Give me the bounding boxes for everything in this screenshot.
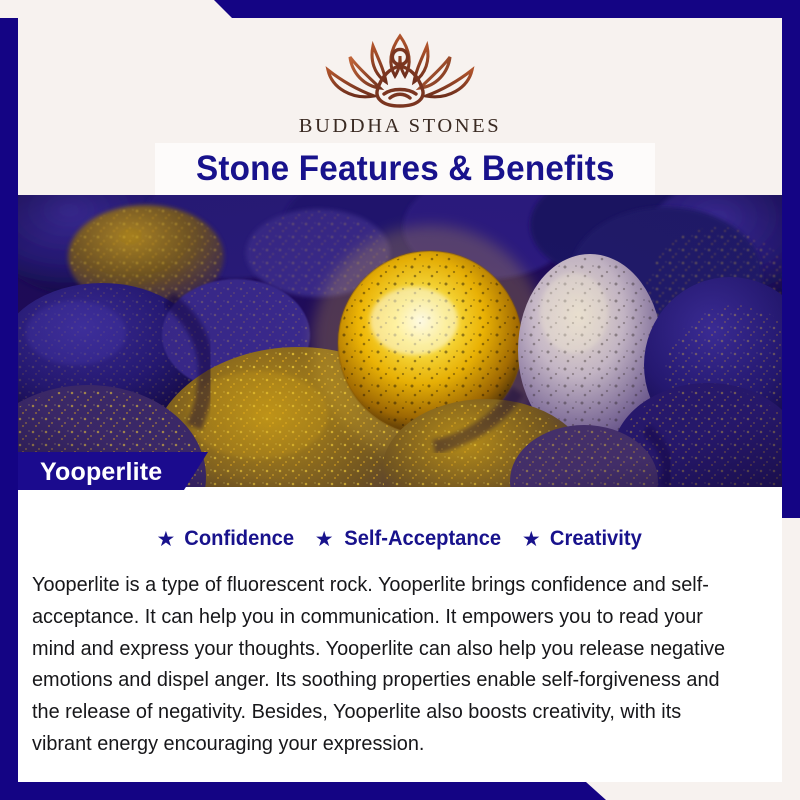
stone-name-banner: Yooperlite — [18, 452, 208, 490]
stone-photo-artwork — [18, 195, 782, 487]
stone-name: Yooperlite — [40, 458, 162, 487]
page-title: Stone Features & Benefits — [196, 149, 615, 189]
brand-name: BUDDHA STONES — [299, 115, 502, 138]
keyword-item: ★ Creativity — [522, 527, 644, 551]
star-icon: ★ — [157, 529, 176, 550]
star-icon: ★ — [315, 529, 334, 550]
keyword-label: Self-Acceptance — [344, 527, 501, 551]
content-panel: ★ Confidence ★ Self-Acceptance ★ Creativ… — [18, 487, 782, 782]
lotus-meditation-icon — [312, 26, 488, 112]
brand-logo: BUDDHA STONES — [299, 26, 502, 138]
keywords-row: ★ Confidence ★ Self-Acceptance ★ Creativ… — [18, 527, 782, 551]
left-border-accent — [0, 18, 18, 800]
stone-photo — [18, 195, 782, 487]
star-icon: ★ — [522, 529, 541, 550]
keyword-item: ★ Confidence — [157, 527, 297, 551]
stone-description: Yooperlite is a type of fluorescent rock… — [32, 569, 732, 760]
title-banner: Stone Features & Benefits — [155, 143, 655, 195]
right-border-accent — [782, 18, 800, 518]
keyword-item: ★ Self-Acceptance — [315, 527, 504, 551]
stone-benefits-infographic: BUDDHA STONES Stone Features & Benefits … — [0, 0, 800, 800]
keyword-label: Creativity — [550, 527, 642, 551]
keyword-label: Confidence — [185, 527, 295, 551]
